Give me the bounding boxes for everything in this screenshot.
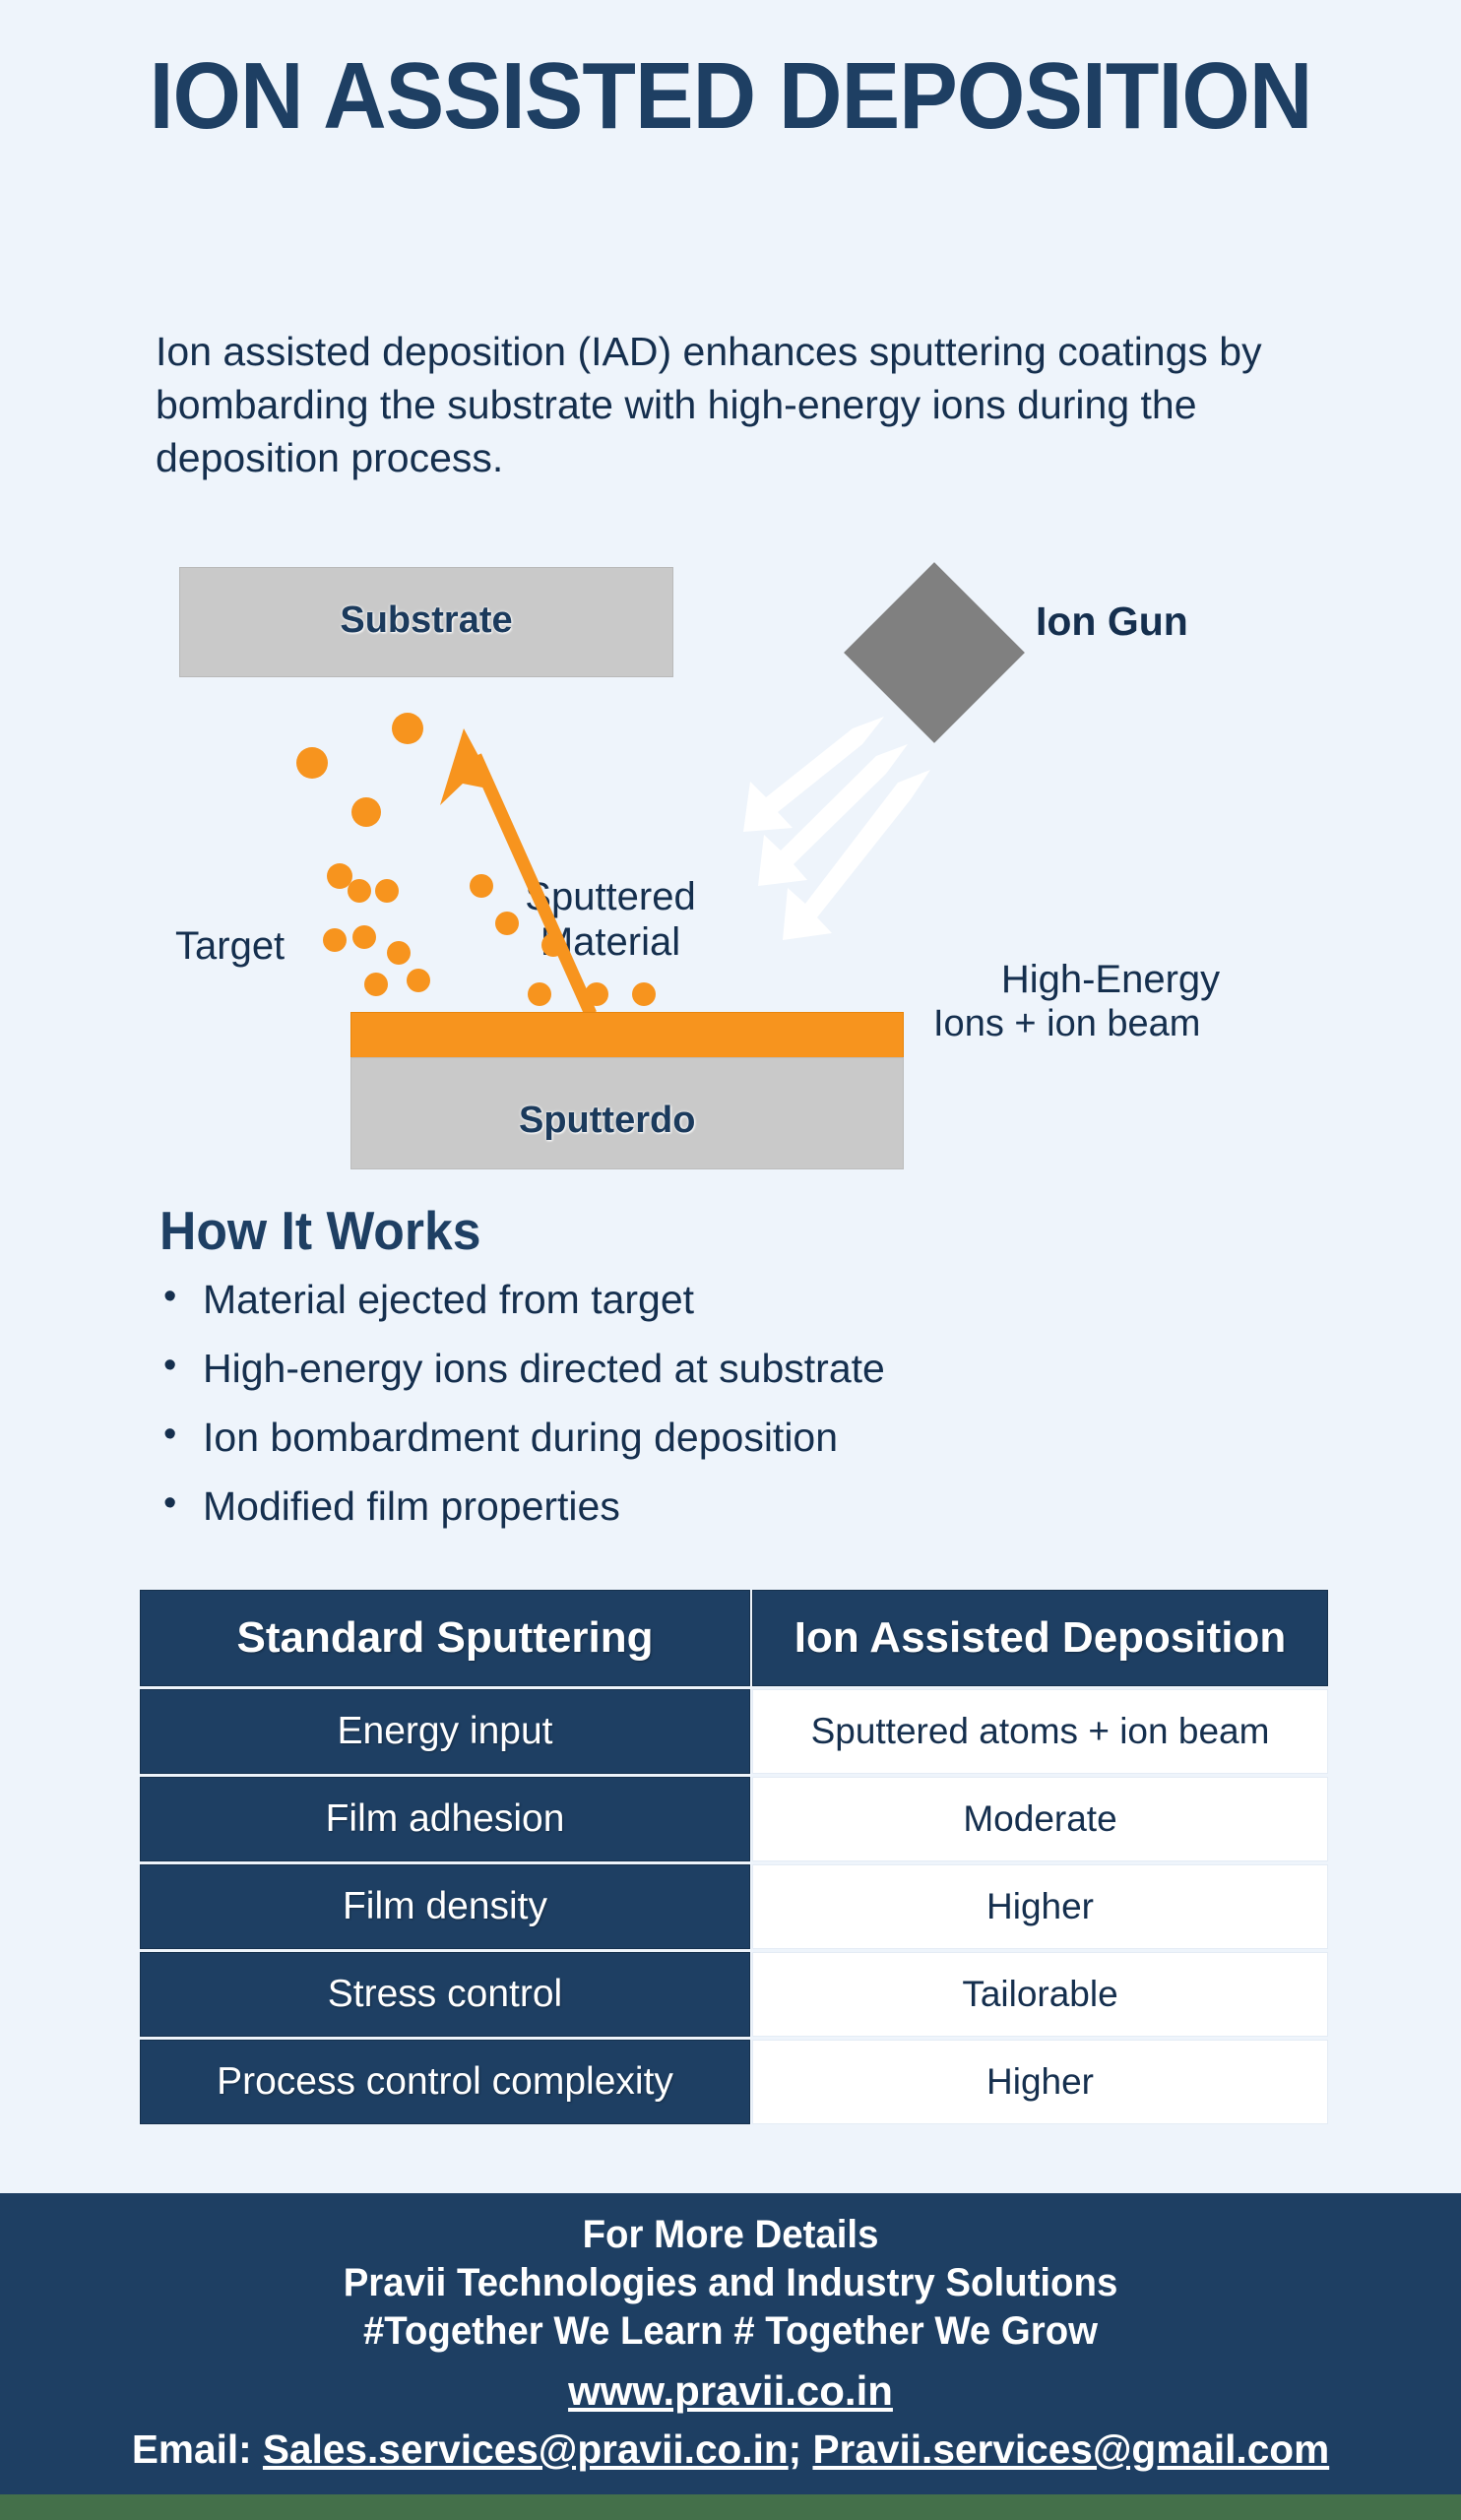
infographic-page: ION ASSISTED DEPOSITION Ion assisted dep… <box>0 0 1461 2520</box>
sputter-target-bar <box>350 1012 904 1059</box>
how-it-works-item: Modified film properties <box>156 1486 1317 1527</box>
footer-line-1: For More Details <box>30 2211 1432 2259</box>
table-cell-value: Moderate <box>752 1777 1328 1861</box>
table-cell-property: Film density <box>140 1864 750 1949</box>
how-it-works-item: High-energy ions directed at substrate <box>156 1349 1317 1389</box>
table-cell-value: Sputtered atoms + ion beam <box>752 1689 1328 1774</box>
sputter-source-label: Sputterdo <box>519 1100 695 1142</box>
table-row: Film densityHigher <box>140 1864 1328 1949</box>
sputter-source-box: Sputterdo <box>350 1057 904 1169</box>
table-header-iad: Ion Assisted Deposition <box>752 1590 1328 1686</box>
footer-website-link[interactable]: www.pravii.co.in <box>0 2364 1461 2419</box>
footer-line-3: #Together We Learn # Together We Grow <box>30 2307 1432 2356</box>
process-diagram: Substrate Ion Gun Target Sputtered Mater… <box>0 551 1461 1162</box>
table-cell-property: Energy input <box>140 1689 750 1774</box>
footer: For More Details Pravii Technologies and… <box>0 2193 1461 2494</box>
how-it-works-item: Ion bombardment during deposition <box>156 1417 1317 1458</box>
table-row: Process control complexityHigher <box>140 2040 1328 2124</box>
how-it-works-item: Material ejected from target <box>156 1280 1317 1320</box>
table-header-row: Standard Sputtering Ion Assisted Deposit… <box>140 1590 1328 1686</box>
footer-line-2: Pravii Technologies and Industry Solutio… <box>30 2259 1432 2307</box>
footer-email-separator: ; <box>789 2426 813 2472</box>
sputtered-material-arrow <box>440 728 591 1014</box>
how-it-works-list: Material ejected from targetHigh-energy … <box>156 1280 1317 1555</box>
comparison-table: Standard Sputtering Ion Assisted Deposit… <box>138 1587 1330 2127</box>
table-header-standard: Standard Sputtering <box>140 1590 750 1686</box>
table-cell-property: Process control complexity <box>140 2040 750 2124</box>
table-row: Stress controlTailorable <box>140 1952 1328 2037</box>
how-it-works-heading: How It Works <box>159 1199 481 1262</box>
footer-email-1[interactable]: Sales.services@pravii.co.in <box>263 2426 789 2472</box>
table-cell-value: Tailorable <box>752 1952 1328 2037</box>
footer-email-2[interactable]: Pravii.services@gmail.com <box>812 2426 1329 2472</box>
table-cell-value: Higher <box>752 1864 1328 1949</box>
intro-paragraph: Ion assisted deposition (IAD) enhances s… <box>156 325 1298 484</box>
table-cell-property: Film adhesion <box>140 1777 750 1861</box>
bottom-green-strip <box>0 2494 1461 2520</box>
table-row: Energy inputSputtered atoms + ion beam <box>140 1689 1328 1774</box>
table-row: Film adhesionModerate <box>140 1777 1328 1861</box>
table-cell-property: Stress control <box>140 1952 750 2037</box>
table-cell-value: Higher <box>752 2040 1328 2124</box>
footer-email-line: Email: Sales.services@pravii.co.in; Prav… <box>7 2425 1453 2475</box>
page-title: ION ASSISTED DEPOSITION <box>51 51 1410 142</box>
footer-email-prefix: Email: <box>132 2426 263 2472</box>
